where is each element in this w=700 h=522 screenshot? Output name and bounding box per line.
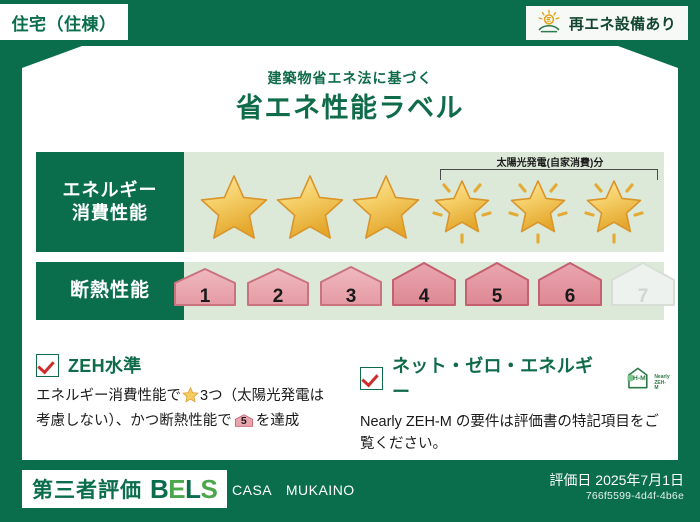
label-footer: 第三者評価 BELS CASA MUKAINO 評価日 2025年7月1日 76… — [0, 462, 700, 522]
criterion-zeh-text-before: エネルギー消費性能で — [36, 388, 181, 404]
insulation-level-scale: 1 2 3 — [184, 262, 664, 320]
insulation-level-badge: 3 — [315, 263, 387, 314]
energy-star-solar — [426, 169, 498, 243]
zeh-m-logo: H-M Nearly ZEH-M — [623, 365, 670, 391]
insulation-level-number: 7 — [607, 286, 679, 308]
energy-star-rating — [184, 164, 664, 248]
inline-level-number: 5 — [234, 413, 254, 429]
zeh-house-icon: H-M — [623, 365, 653, 391]
solar-sparkle-icon — [578, 173, 650, 247]
label-title: 省エネ性能ラベル — [0, 86, 700, 125]
inline-insulation-level-icon: 5 — [234, 412, 254, 429]
bels-certification-mark: 第三者評価 BELS — [22, 470, 227, 508]
energy-star-solar — [578, 169, 650, 243]
building-type-tag-label: 住宅（住棟） — [12, 10, 117, 35]
insulation-label-text: 断熱性能 — [70, 279, 150, 303]
insulation-level-badge: 1 — [169, 265, 241, 314]
criterion-net-zero-energy: ネット・ゼロ・エネルギー H-M Nearly ZEH-M Nearly ZEH… — [360, 352, 670, 456]
bels-energy-label: 住宅（住棟） 再エネ設備あり 建築物省エネ法に基づく 省エネ性能ラベル — [0, 0, 700, 522]
energy-performance-row: エネルギー 消費性能 太陽光発電(自家消費)分 — [36, 152, 664, 252]
renewable-equipment-badge: 再エネ設備あり — [526, 6, 688, 40]
insulation-level-badge: 6 — [534, 259, 606, 314]
building-type-tag: 住宅（住棟） — [0, 4, 128, 40]
check-icon — [36, 354, 59, 377]
evaluation-date: 評価日 2025年7月1日 — [549, 470, 684, 490]
zeh-caption-line2: ZEH-M — [654, 380, 666, 391]
insulation-level-badge: 4 — [388, 259, 460, 314]
inline-star-icon — [182, 387, 199, 410]
insulation-level-number: 5 — [461, 286, 533, 308]
check-icon — [360, 367, 383, 390]
evaluation-uid: 766f5599-4d4f-4b6e — [586, 490, 684, 502]
zeh-logo-caption: Nearly ZEH-M — [654, 375, 670, 391]
insulation-rating-body: 1 2 3 — [184, 262, 664, 320]
insulation-level-number: 4 — [388, 286, 460, 308]
insulation-level-badge: 5 — [461, 259, 533, 314]
energy-star — [198, 169, 270, 243]
third-party-evaluation-label: 第三者評価 — [32, 474, 142, 504]
insulation-level-number: 6 — [534, 286, 606, 308]
energy-label-line1: エネルギー — [63, 179, 158, 202]
insulation-performance-label: 断熱性能 — [36, 262, 184, 320]
solar-sun-icon — [536, 9, 562, 38]
insulation-level-number: 2 — [242, 286, 314, 308]
criterion-zeh-title: ZEH水準 — [68, 352, 142, 378]
bels-letter-l: L — [185, 474, 200, 504]
criterion-zeh-header: ZEH水準 — [36, 352, 336, 378]
criterion-nze-body: Nearly ZEH-M の要件は評価書の特記項目をご覧ください。 — [360, 411, 670, 456]
energy-label-line2: 消費性能 — [72, 202, 148, 225]
energy-rating-body: 太陽光発電(自家消費)分 — [184, 152, 664, 252]
bels-letter-b: B — [150, 474, 168, 504]
solar-sparkle-icon — [426, 173, 498, 247]
insulation-performance-row: 断熱性能 1 2 — [36, 262, 664, 320]
bels-letter-s: S — [201, 474, 218, 504]
criterion-nze-header: ネット・ゼロ・エネルギー H-M Nearly ZEH-M — [360, 352, 670, 404]
insulation-level-badge-inactive: 7 — [607, 259, 679, 314]
criterion-nze-title: ネット・ゼロ・エネルギー — [392, 352, 610, 404]
bels-letter-e: E — [168, 474, 185, 504]
criterion-zeh: ZEH水準 エネルギー消費性能で3つ（太陽光発電は考慮しない）、かつ断熱性能で5… — [36, 352, 336, 433]
energy-performance-label: エネルギー 消費性能 — [36, 152, 184, 252]
insulation-level-number: 1 — [169, 286, 241, 308]
renewable-badge-label: 再エネ設備あり — [569, 13, 676, 34]
insulation-level-number: 3 — [315, 286, 387, 308]
energy-star-solar — [502, 169, 574, 243]
criterion-zeh-body: エネルギー消費性能で3つ（太陽光発電は考慮しない）、かつ断熱性能で5を達成 — [36, 385, 336, 433]
property-name: CASA MUKAINO — [232, 480, 355, 500]
energy-star — [350, 169, 422, 243]
energy-star — [274, 169, 346, 243]
criterion-zeh-text-end: を達成 — [256, 413, 300, 429]
solar-sparkle-icon — [502, 173, 574, 247]
bels-wordmark: BELS — [150, 474, 217, 505]
label-subtitle: 建築物省エネ法に基づく — [0, 68, 700, 88]
insulation-level-badge: 2 — [242, 265, 314, 314]
zeh-logo-text: H-M — [633, 375, 646, 382]
